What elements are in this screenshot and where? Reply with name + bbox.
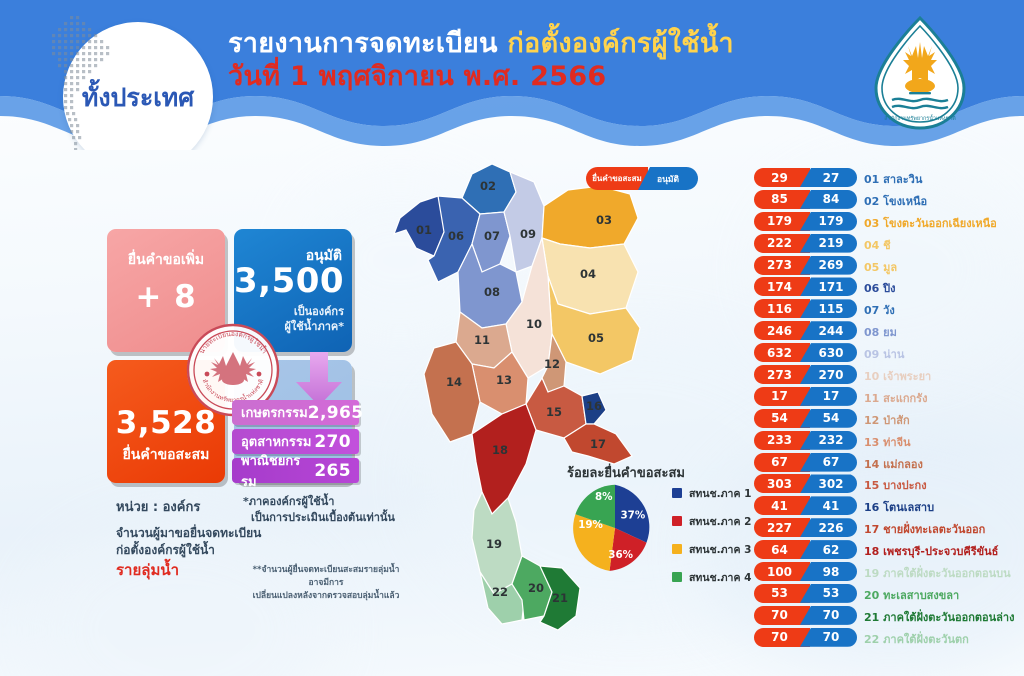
basin-submitted-pill: 41 (754, 496, 810, 515)
unit-note: หน่วย : องค์กร (116, 496, 200, 517)
sector-bar-value: 2,965 (308, 403, 364, 423)
basin-submitted-pill: 233 (754, 431, 810, 450)
infographic-page: ทั้งประเทศ รายงานการจดทะเบียน ก่อตั้งองค… (0, 0, 1024, 676)
map-label-02: 02 (480, 179, 496, 193)
basin-submitted-pill: 53 (754, 584, 810, 603)
map-region-03 (542, 186, 638, 248)
basin-label: 07 วัง (864, 301, 895, 319)
basin-submitted-pill: 246 (754, 321, 810, 340)
legend-item: สทนช.ภาค 1 (672, 482, 751, 504)
basin-row: 27326905 มูล (754, 256, 1024, 278)
map-legend-submitted: ยื่นคำขอสะสม (586, 167, 648, 190)
map-label-08: 08 (484, 285, 500, 299)
legend-label-2: สทนช.ภาค 2 (689, 513, 751, 530)
basin-label: 06 ปิง (864, 279, 896, 297)
basin-row: 17417106 ปิง (754, 277, 1024, 299)
sector-bar-value: 270 (314, 432, 351, 452)
map-label-01: 01 (416, 223, 432, 237)
map-label-13: 13 (496, 373, 512, 387)
basin-list: 292701 สาละวิน858402 โขงเหนือ17917903 โข… (754, 168, 1024, 650)
basin-label: 12 ป่าสัก (864, 411, 910, 429)
map-label-05: 05 (588, 331, 604, 345)
basin-label: 10 เจ้าพระยา (864, 367, 931, 385)
basin-label: 11 สะแกกรัง (864, 389, 927, 407)
map-label-14: 14 (446, 375, 462, 389)
map-label-07: 07 (484, 229, 500, 243)
map-label-09: 09 (520, 227, 536, 241)
legend-label-1: สทนช.ภาค 1 (689, 485, 751, 502)
basin-submitted-pill: 64 (754, 540, 810, 559)
basin-row: 22221904 ชี (754, 234, 1024, 256)
basin-label: 20 ทะเลสาบสงขลา (864, 586, 959, 604)
map-label-16: 16 (586, 399, 602, 413)
basin-label: 02 โขงเหนือ (864, 192, 927, 210)
basin-submitted-pill: 273 (754, 365, 810, 384)
basin-row: 414116 โตนเลสาบ (754, 496, 1024, 518)
basin-label: 04 ชี (864, 236, 891, 254)
basin-label: 15 บางปะกง (864, 476, 927, 494)
basin-label: 03 โขงตะวันออกเฉียงเหนือ (864, 214, 997, 232)
basin-submitted-pill: 179 (754, 212, 810, 231)
page-header: ทั้งประเทศ รายงานการจดทะเบียน ก่อตั้งองค… (0, 0, 1024, 150)
basin-label: 01 สาละวิน (864, 170, 922, 188)
map-label-10: 10 (526, 317, 542, 331)
pink-card-label: ยื่นคำขอเพิ่ม (107, 249, 225, 271)
basin-submitted-pill: 632 (754, 343, 810, 362)
basin-submitted-pill: 227 (754, 518, 810, 537)
basin-label: 05 มูล (864, 258, 897, 276)
legend-label-4: สทนช.ภาค 4 (689, 569, 751, 586)
basin-label: 18 เพชรบุรี-ประจวบคีรีขันธ์ (864, 542, 998, 560)
map-legend: ยื่นคำขอสะสม อนุมัติ (586, 167, 698, 190)
basin-submitted-pill: 17 (754, 387, 810, 406)
basin-submitted-pill: 85 (754, 190, 810, 209)
basin-submitted-pill: 303 (754, 474, 810, 493)
asterisk-note-1-line-1: *ภาคองค์กรผู้ใช้น้ำ (243, 494, 395, 510)
asterisk-note-1-line-2: เป็นการประเมินเบื้องต้นเท่านั้น (243, 510, 395, 526)
basin-row: 707022 ภาคใต้ฝั่งตะวันตก (754, 628, 1024, 650)
map-label-19: 19 (486, 537, 502, 551)
basin-label: 16 โตนเลสาบ (864, 498, 934, 516)
basin-row: 535320 ทะเลสาบสงขลา (754, 584, 1024, 606)
water-drop-garuda-emblem-icon: สำนักงานทรัพยากรน้ำแห่งชาติ (862, 12, 978, 138)
basin-submitted-pill: 222 (754, 234, 810, 253)
map-label-15: 15 (546, 405, 562, 419)
basin-row: 676714 แม่กลอง (754, 453, 1024, 475)
basin-label: 19 ภาคใต้ฝั่งตะวันออกตอนบน (864, 564, 1011, 582)
legend-item: สทนช.ภาค 3 (672, 538, 751, 560)
title-line-1: รายงานการจดทะเบียน ก่อตั้งองค์กรผู้ใช้น้… (228, 28, 734, 59)
basin-submitted-pill: 70 (754, 606, 810, 625)
description-line-1: จำนวนผู้มาขอยื่นจดทะเบียน (116, 525, 261, 542)
basin-submitted-pill: 116 (754, 299, 810, 318)
basin-submitted-pill: 174 (754, 277, 810, 296)
basin-submitted-pill: 54 (754, 409, 810, 428)
basin-row: 292701 สาละวิน (754, 168, 1024, 190)
basin-row: 1009819 ภาคใต้ฝั่งตะวันออกตอนบน (754, 562, 1024, 584)
basin-label: 08 ยม (864, 323, 897, 341)
header-title: รายงานการจดทะเบียน ก่อตั้งองค์กรผู้ใช้น้… (228, 28, 734, 93)
title-plain: รายงานการจดทะเบียน (228, 28, 507, 59)
basin-row: 27327010 เจ้าพระยา (754, 365, 1024, 387)
description-note: จำนวนผู้มาขอยื่นจดทะเบียน ก่อตั้งองค์กรผ… (116, 525, 261, 582)
basin-submitted-pill: 273 (754, 256, 810, 275)
thailand-basin-map: 01 02 03 04 05 06 07 08 09 10 11 12 13 1… (376, 152, 676, 652)
basin-row: 22722617 ชายฝั่งทะเลตะวันออก (754, 518, 1024, 540)
basin-submitted-pill: 29 (754, 168, 810, 187)
basin-row: 545412 ป่าสัก (754, 409, 1024, 431)
title-accent: ก่อตั้งองค์กรผู้ใช้น้ำ (507, 28, 733, 59)
basin-row: 646218 เพชรบุรี-ประจวบคีรีขันธ์ (754, 540, 1024, 562)
badge-label: ทั้งประเทศ (63, 78, 213, 118)
sector-bar-agriculture: เกษตรกรรม 2,965 (232, 400, 359, 425)
map-label-11: 11 (474, 333, 490, 347)
basin-row: 11611507 วัง (754, 299, 1024, 321)
legend-item: สทนช.ภาค 2 (672, 510, 751, 532)
pie-chart-legend: สทนช.ภาค 1 สทนช.ภาค 2 สทนช.ภาค 3 สทนช.ภา… (672, 482, 751, 594)
basin-label: 09 น่าน (864, 345, 904, 363)
basin-row: 24624408 ยม (754, 321, 1024, 343)
legend-item: สทนช.ภาค 4 (672, 566, 751, 588)
basin-submitted-pill: 70 (754, 628, 810, 647)
basin-row: 17917903 โขงตะวันออกเฉียงเหนือ (754, 212, 1024, 234)
basin-row: 171711 สะแกกรัง (754, 387, 1024, 409)
basin-label: 21 ภาคใต้ฝั่งตะวันออกตอนล่าง (864, 608, 1014, 626)
basin-row: 23323213 ท่าจีน (754, 431, 1024, 453)
map-label-04: 04 (580, 267, 596, 281)
red-card-label: ยื่นคำขอสะสม (107, 444, 225, 466)
basin-label: 13 ท่าจีน (864, 433, 911, 451)
map-label-17: 17 (590, 437, 606, 451)
legend-label-3: สทนช.ภาค 3 (689, 541, 751, 558)
blue-card-value: 3,500 (234, 261, 344, 301)
pink-card-value: + 8 (107, 279, 225, 315)
asterisk-note-1: *ภาคองค์กรผู้ใช้น้ำ เป็นการประเมินเบื้อง… (243, 494, 395, 526)
map-label-21: 21 (552, 591, 568, 605)
map-label-12: 12 (544, 357, 560, 371)
map-label-03: 03 (596, 213, 612, 227)
map-label-06: 06 (448, 229, 464, 243)
basin-label: 17 ชายฝั่งทะเลตะวันออก (864, 520, 985, 538)
basin-row: 707021 ภาคใต้ฝั่งตะวันออกตอนล่าง (754, 606, 1024, 628)
basin-submitted-pill: 100 (754, 562, 810, 581)
basin-row: 30330215 บางปะกง (754, 474, 1024, 496)
map-label-20: 20 (528, 581, 544, 595)
sector-bar-value: 265 (314, 461, 351, 481)
map-label-22: 22 (492, 585, 508, 599)
blue-card-sub-line1: เป็นองค์กร (234, 305, 344, 320)
sector-bar-name: เกษตรกรรม (241, 402, 308, 423)
basin-row: 858402 โขงเหนือ (754, 190, 1024, 212)
map-label-18: 18 (492, 443, 508, 457)
svg-text:สำนักงานทรัพยากรน้ำแห่งชาติ: สำนักงานทรัพยากรน้ำแห่งชาติ (884, 114, 956, 122)
basin-row: 63263009 น่าน (754, 343, 1024, 365)
basin-label: 14 แม่กลอง (864, 455, 923, 473)
description-line-2: ก่อตั้งองค์กรผู้ใช้น้ำ (116, 542, 261, 559)
sector-bar-commerce: พาณิชยกรรม 265 (232, 458, 359, 483)
basin-label: 22 ภาคใต้ฝั่งตะวันตก (864, 630, 969, 648)
description-highlight: รายลุ่มน้ำ (116, 560, 261, 582)
title-line-2: วันที่ 1 พฤศจิกายน พ.ศ. 2566 (228, 61, 734, 92)
basin-submitted-pill: 67 (754, 453, 810, 472)
sector-bar-name: พาณิชยกรรม (241, 450, 314, 492)
